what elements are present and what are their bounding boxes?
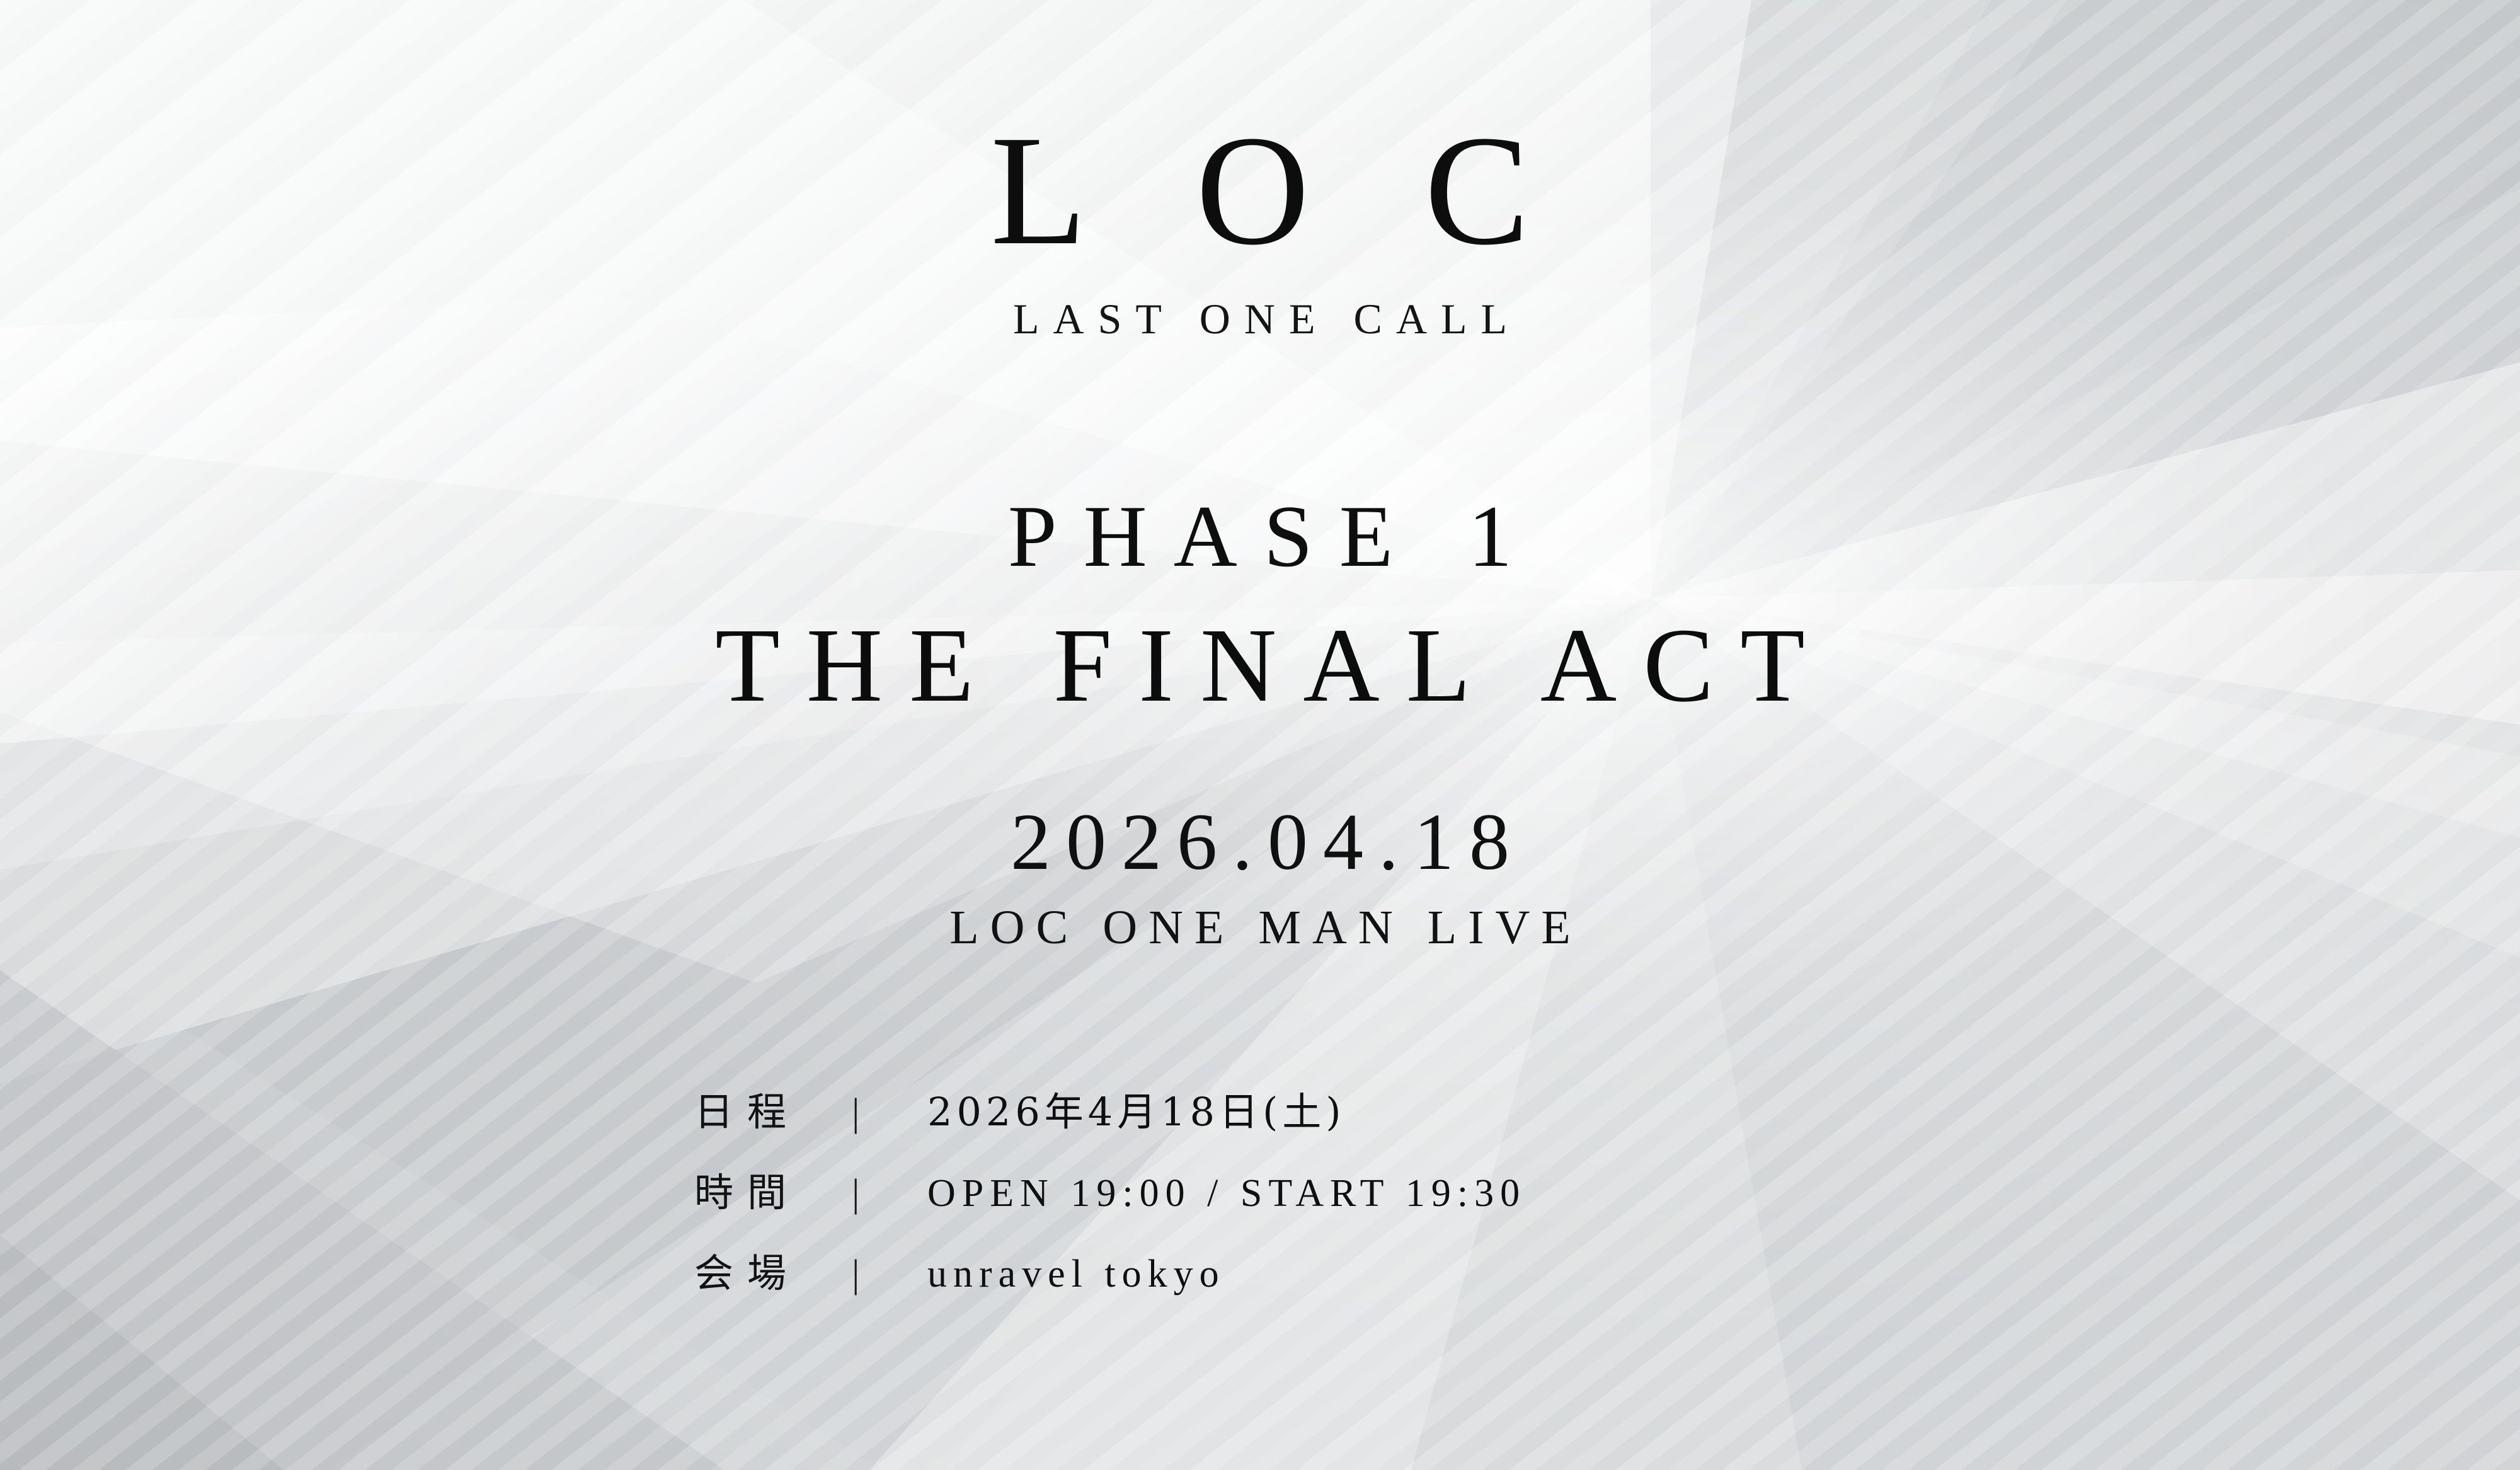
event-details-table: 日程 | 2026年4月18日(土) 時間 | OPEN 19:00 / STA… [694, 1080, 1526, 1322]
phase-label: PHASE 1 [0, 493, 2520, 581]
detail-separator: | [852, 1252, 927, 1297]
detail-row-time: 時間 | OPEN 19:00 / START 19:30 [694, 1161, 1526, 1241]
detail-separator: | [852, 1091, 927, 1135]
logo-subtitle: LAST ONE CALL [0, 297, 2520, 340]
detail-label-time: 時間 [694, 1161, 852, 1217]
detail-row-venue: 会場 | unravel tokyo [694, 1241, 1526, 1322]
detail-value-time: OPEN 19:00 / START 19:30 [927, 1171, 1526, 1216]
detail-row-date: 日程 | 2026年4月18日(土) [694, 1080, 1526, 1161]
detail-separator: | [852, 1171, 927, 1216]
detail-label-date: 日程 [694, 1080, 852, 1137]
detail-label-venue: 会場 [694, 1241, 852, 1298]
event-date-display: 2026.04.18 [0, 801, 2520, 882]
detail-value-venue: unravel tokyo [927, 1252, 1225, 1297]
event-format: LOC ONE MAN LIVE [0, 904, 2520, 951]
poster-canvas: L O C LAST ONE CALL PHASE 1 THE FINAL AC… [0, 0, 2520, 1470]
logo-wordmark: L O C [0, 112, 2520, 270]
event-title: THE FINAL ACT [0, 612, 2520, 718]
detail-value-date: 2026年4月18日(土) [927, 1080, 1346, 1137]
